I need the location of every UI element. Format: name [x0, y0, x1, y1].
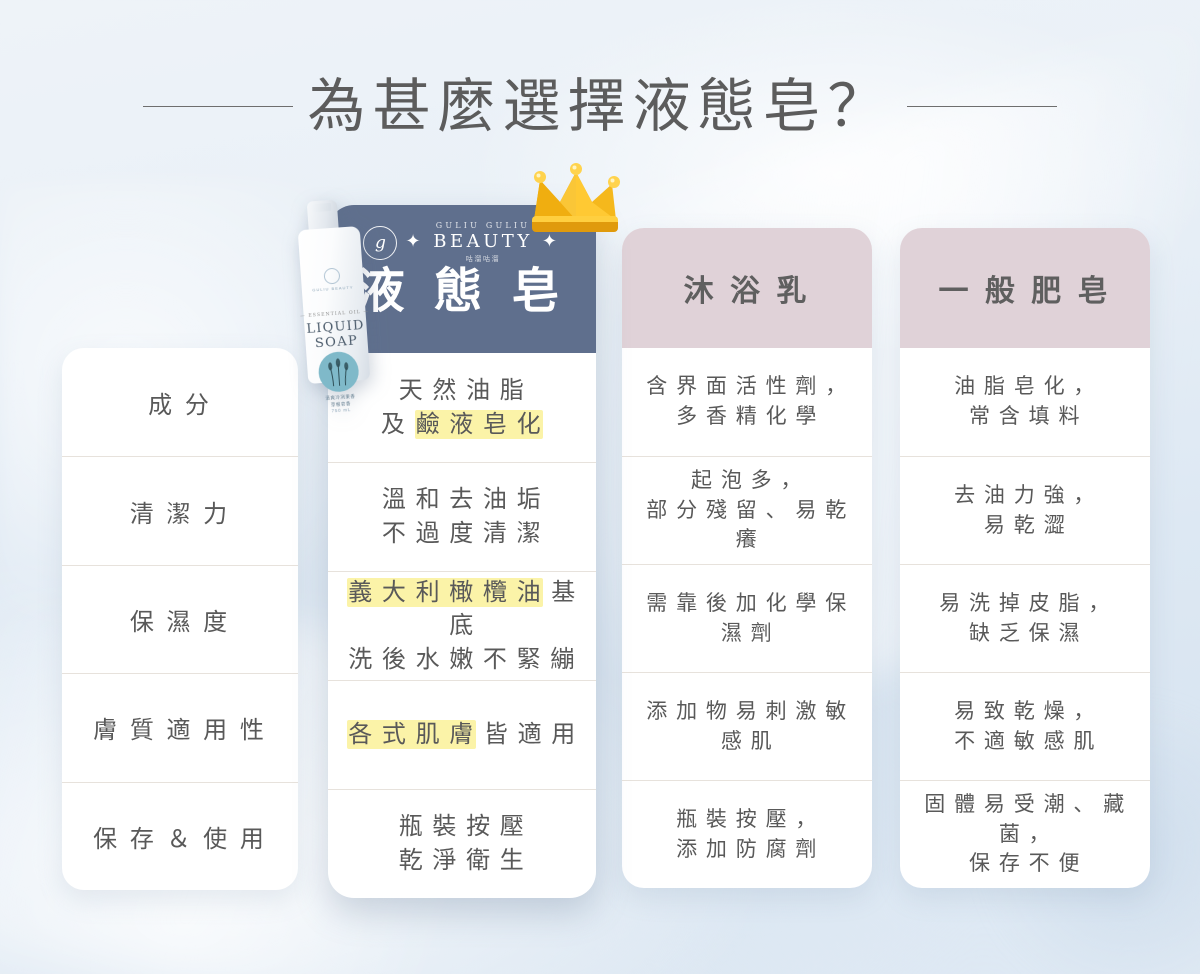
cell-line: 乾 淨 衛 生	[399, 844, 526, 878]
cell-line: 溫 和 去 油 垢	[382, 483, 542, 517]
cell-text: 及	[381, 411, 415, 438]
cell-body-wash: 需 靠 後 加 化 學 保 濕 劑	[622, 564, 872, 672]
row-label: 成 分	[62, 348, 298, 456]
cell-text: 含 界 面 活 性 劑 ，	[646, 375, 848, 398]
cell-text: 皆 適 用	[476, 721, 577, 748]
cell-bar-soap: 油 脂 皂 化 ，常 含 填 料	[900, 348, 1150, 456]
cell-line: 易 乾 澀	[954, 511, 1096, 541]
cell-line: 含 界 面 活 性 劑 ，	[646, 372, 848, 402]
cell-text: 瓶 裝 按 壓 ，	[676, 808, 818, 831]
cell-text: 不 過 度 清 潔	[382, 520, 542, 547]
column-body-wash: 沐 浴 乳 含 界 面 活 性 劑 ，多 香 精 化 學起 泡 多 ，部 分 殘…	[622, 228, 872, 888]
bottle-nozzle	[311, 203, 332, 212]
highlighted-text: 各 式 肌 膚	[347, 720, 476, 749]
bottle-logo-icon	[323, 267, 340, 284]
featured-product-title: 液 態 皂	[357, 268, 568, 316]
cell-bar-soap: 易 洗 掉 皮 脂 ，缺 乏 保 濕	[900, 564, 1150, 672]
cell-line: 易 致 乾 燥 ，	[954, 697, 1096, 727]
cell-line: 各 式 肌 膚 皆 適 用	[347, 718, 577, 752]
product-bottle-image: GULIU BEAUTY — ESSENTIAL OIL — LIQUID SO…	[291, 198, 376, 385]
cell-liquid-soap: 義 大 利 橄 欖 油 基 底洗 後 水 嫩 不 緊 繃	[328, 571, 596, 680]
row-label: 清 潔 力	[62, 456, 298, 564]
bottle-brand-line: GULIU BEAUTY	[312, 285, 354, 293]
bottle-label-line2: SOAP	[314, 333, 358, 351]
cell-bar-soap: 去 油 力 強 ，易 乾 澀	[900, 456, 1150, 564]
bottle-lavender-illustration	[317, 350, 360, 393]
cell-body-wash: 瓶 裝 按 壓 ，添 加 防 腐 劑	[622, 780, 872, 888]
comparison-table: 成 分清 潔 力保 濕 度膚 質 適 用 性保 存 ＆ 使 用 沐 浴 乳 含 …	[0, 0, 1200, 974]
cell-text: 易 致 乾 燥 ，	[954, 700, 1096, 723]
brand-logo-icon: g	[363, 226, 397, 260]
cell-line: 添 加 物 易 刺 激 敏 感 肌	[632, 697, 862, 757]
column-bar-soap: 一 般 肥 皂 油 脂 皂 化 ，常 含 填 料去 油 力 強 ，易 乾 澀易 …	[900, 228, 1150, 888]
cell-liquid-soap: 溫 和 去 油 垢不 過 度 清 潔	[328, 462, 596, 571]
cell-text: 油 脂 皂 化 ，	[954, 375, 1096, 398]
crown-icon	[520, 158, 632, 240]
cell-text: 需 靠 後 加 化 學 保 濕 劑	[646, 592, 848, 645]
cell-liquid-soap: 瓶 裝 按 壓乾 淨 衛 生	[328, 789, 596, 898]
cell-line: 不 適 敏 感 肌	[954, 727, 1096, 757]
cell-text: 瓶 裝 按 壓	[399, 813, 526, 840]
bottle-chinese-text: 清爽冷冽果香草根皂香	[325, 394, 356, 409]
cell-text: 易 乾 澀	[984, 514, 1066, 537]
cell-line: 易 洗 掉 皮 脂 ，	[939, 589, 1111, 619]
cell-text: 起 泡 多 ，	[691, 469, 803, 492]
cell-text: 溫 和 去 油 垢	[382, 486, 542, 513]
column-header-body-wash: 沐 浴 乳	[622, 228, 872, 348]
brand-eyebrow: GULIU GULIU	[436, 221, 530, 230]
row-label: 保 存 ＆ 使 用	[62, 782, 298, 890]
cell-body-wash: 起 泡 多 ，部 分 殘 留 、 易 乾 癢	[622, 456, 872, 564]
cell-line: 保 存 不 便	[910, 849, 1140, 879]
cell-text: 常 含 填 料	[969, 405, 1081, 428]
cell-line: 及 鹼 液 皂 化	[381, 408, 543, 442]
cell-liquid-soap: 各 式 肌 膚 皆 適 用	[328, 680, 596, 789]
cell-text: 洗 後 水 嫩 不 緊 繃	[348, 646, 576, 673]
cell-line: 義 大 利 橄 欖 油 基 底	[338, 576, 586, 643]
cell-line: 去 油 力 強 ，	[954, 481, 1096, 511]
highlighted-text: 義 大 利 橄 欖 油	[347, 578, 543, 607]
row-label: 膚 質 適 用 性	[62, 673, 298, 781]
cell-line: 瓶 裝 按 壓	[399, 810, 526, 844]
cell-text: 添 加 物 易 刺 激 敏 感 肌	[646, 700, 848, 753]
cell-body-wash: 含 界 面 活 性 劑 ，多 香 精 化 學	[622, 348, 872, 456]
cell-text: 添 加 防 腐 劑	[676, 838, 818, 861]
cell-line: 固 體 易 受 潮 、 藏 菌 ，	[910, 790, 1140, 850]
cell-line: 多 香 精 化 學	[646, 402, 848, 432]
cell-line: 不 過 度 清 潔	[382, 517, 542, 551]
highlighted-text: 鹼 液 皂 化	[415, 410, 544, 439]
cell-text: 保 存 不 便	[969, 852, 1081, 875]
cell-text: 部 分 殘 留 、 易 乾 癢	[646, 499, 848, 552]
cell-text: 缺 乏 保 濕	[969, 622, 1081, 645]
cell-bar-soap: 固 體 易 受 潮 、 藏 菌 ，保 存 不 便	[900, 780, 1150, 888]
cell-body-wash: 添 加 物 易 刺 激 敏 感 肌	[622, 672, 872, 780]
row-label-list: 成 分清 潔 力保 濕 度膚 質 適 用 性保 存 ＆ 使 用	[62, 348, 298, 890]
cell-text: 易 洗 掉 皮 脂 ，	[939, 592, 1111, 615]
cell-text: 不 適 敏 感 肌	[954, 730, 1096, 753]
cell-bar-soap: 易 致 乾 燥 ，不 適 敏 感 肌	[900, 672, 1150, 780]
row-label: 保 濕 度	[62, 565, 298, 673]
cell-line: 油 脂 皂 化 ，	[954, 372, 1096, 402]
cell-text: 固 體 易 受 潮 、 藏 菌 ，	[924, 793, 1126, 846]
cell-line: 洗 後 水 嫩 不 緊 繃	[338, 643, 586, 677]
column-cells-liquid-soap: 天 然 油 脂及 鹼 液 皂 化溫 和 去 油 垢不 過 度 清 潔義 大 利 …	[328, 353, 596, 898]
cell-line: 常 含 填 料	[954, 402, 1096, 432]
cell-text: 乾 淨 衛 生	[399, 847, 526, 874]
cell-line: 部 分 殘 留 、 易 乾 癢	[632, 496, 862, 556]
column-cells-bar-soap: 油 脂 皂 化 ，常 含 填 料去 油 力 強 ，易 乾 澀易 洗 掉 皮 脂 …	[900, 348, 1150, 888]
row-label-column: 成 分清 潔 力保 濕 度膚 質 適 用 性保 存 ＆ 使 用	[62, 348, 298, 890]
column-header-bar-soap: 一 般 肥 皂	[900, 228, 1150, 348]
cell-text: 多 香 精 化 學	[676, 405, 818, 428]
cell-text: 天 然 油 脂	[399, 377, 526, 404]
column-cells-body-wash: 含 界 面 活 性 劑 ，多 香 精 化 學起 泡 多 ，部 分 殘 留 、 易…	[622, 348, 872, 888]
cell-line: 天 然 油 脂	[381, 374, 543, 408]
bottle-body: GULIU BEAUTY — ESSENTIAL OIL — LIQUID SO…	[298, 226, 371, 384]
cell-line: 添 加 防 腐 劑	[676, 835, 818, 865]
cell-line: 需 靠 後 加 化 學 保 濕 劑	[632, 589, 862, 649]
cell-line: 瓶 裝 按 壓 ，	[676, 805, 818, 835]
cell-line: 起 泡 多 ，	[632, 466, 862, 496]
cell-line: 缺 乏 保 濕	[939, 619, 1111, 649]
cell-text: 去 油 力 強 ，	[954, 484, 1096, 507]
brand-sub: 咕溜咕溜	[466, 254, 500, 264]
